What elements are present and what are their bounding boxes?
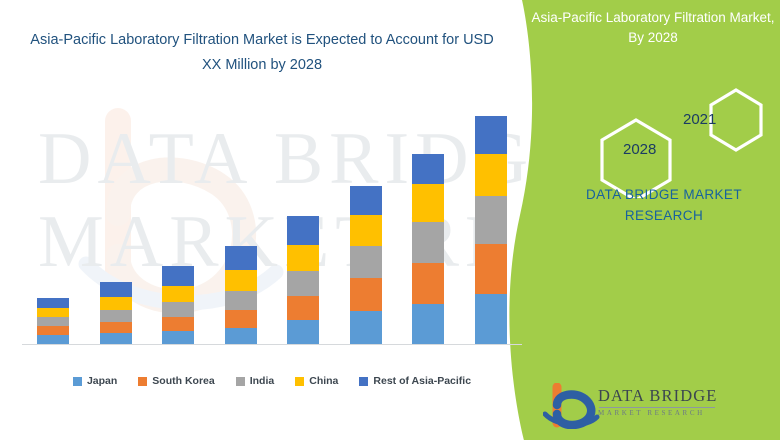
bar-segment — [350, 186, 382, 215]
bar-column — [147, 104, 210, 344]
stacked-bar — [350, 186, 382, 344]
legend-swatch-icon — [236, 377, 245, 386]
bar-column — [22, 104, 85, 344]
bar-segment — [100, 297, 132, 310]
legend-label: China — [309, 375, 338, 387]
stacked-bar — [225, 246, 257, 344]
bar-segment — [100, 322, 132, 333]
bar-segment — [287, 320, 319, 344]
bar-segment — [37, 308, 69, 317]
bar-segment — [412, 184, 444, 222]
bar-segment — [475, 116, 507, 154]
bar-segment — [350, 215, 382, 246]
bar-segment — [475, 154, 507, 196]
logo-divider — [599, 407, 715, 408]
bar-segment — [475, 196, 507, 244]
stacked-bar — [475, 116, 507, 344]
legend-label: India — [250, 375, 275, 387]
legend-label: Japan — [87, 375, 117, 387]
hexagon-group: 2028 2021 — [588, 82, 768, 198]
bar-segment — [225, 291, 257, 310]
legend-swatch-icon — [295, 377, 304, 386]
page-title: Asia-Pacific Laboratory Filtration Marke… — [28, 28, 496, 77]
panel-title: Asia-Pacific Laboratory Filtration Marke… — [530, 8, 776, 47]
hexagon-label-2021: 2021 — [683, 111, 716, 128]
legend-swatch-icon — [138, 377, 147, 386]
bar-segment — [412, 222, 444, 263]
bar-segment — [412, 154, 444, 184]
bar-segment — [225, 328, 257, 344]
bar-segment — [225, 270, 257, 291]
bar-segment — [287, 216, 319, 245]
bar-segment — [162, 302, 194, 317]
bar-segment — [412, 263, 444, 304]
chart-legend: JapanSouth KoreaIndiaChinaRest of Asia-P… — [22, 375, 522, 387]
logo-wordmark: DATA BRIDGE MARKET RESEARCH — [598, 388, 717, 417]
legend-item[interactable]: Japan — [73, 375, 117, 387]
bar-segment — [100, 333, 132, 344]
bar-segment — [475, 294, 507, 344]
bar-segment — [100, 310, 132, 322]
bar-segment — [162, 317, 194, 331]
legend-item[interactable]: Rest of Asia-Pacific — [359, 375, 471, 387]
bar-segment — [475, 244, 507, 294]
hexagon-shapes-icon — [588, 82, 768, 198]
bar-segment — [412, 304, 444, 344]
bar-segment — [100, 282, 132, 297]
infographic-page: DATA BRIDGE MARKET RESEARCH Asia-Pacific… — [0, 0, 780, 440]
bar-segment — [162, 331, 194, 344]
bar-segment — [162, 266, 194, 286]
bar-segment — [225, 246, 257, 270]
legend-swatch-icon — [73, 377, 82, 386]
stacked-bar — [100, 282, 132, 344]
legend-label: South Korea — [152, 375, 214, 387]
bar-segment — [37, 326, 69, 335]
bar-segment — [225, 310, 257, 328]
x-axis-line — [22, 344, 522, 345]
bar-column — [460, 104, 523, 344]
panel-brand-text: DATA BRIDGE MARKET RESEARCH — [556, 185, 772, 227]
bar-segment — [350, 278, 382, 311]
bar-segment — [350, 311, 382, 344]
bar-column — [272, 104, 335, 344]
bar-column — [397, 104, 460, 344]
bar-segment — [287, 296, 319, 320]
legend-item[interactable]: South Korea — [138, 375, 214, 387]
bar-segment — [37, 317, 69, 326]
chart-bars — [22, 104, 522, 344]
stacked-bar-chart — [22, 100, 522, 345]
stacked-bar — [37, 298, 69, 344]
stacked-bar — [162, 266, 194, 344]
legend-swatch-icon — [359, 377, 368, 386]
bar-column — [85, 104, 148, 344]
stacked-bar — [412, 154, 444, 344]
bar-segment — [162, 286, 194, 302]
legend-label: Rest of Asia-Pacific — [373, 375, 471, 387]
legend-item[interactable]: China — [295, 375, 338, 387]
hexagon-label-2028: 2028 — [623, 141, 656, 158]
bar-column — [210, 104, 273, 344]
bar-segment — [37, 298, 69, 308]
logo-name: DATA BRIDGE — [598, 388, 717, 405]
legend-item[interactable]: India — [236, 375, 275, 387]
bar-segment — [287, 245, 319, 271]
bar-segment — [37, 335, 69, 344]
bar-segment — [350, 246, 382, 278]
bar-segment — [287, 271, 319, 296]
bar-column — [335, 104, 398, 344]
stacked-bar — [287, 216, 319, 344]
logo-tagline: MARKET RESEARCH — [598, 409, 717, 417]
